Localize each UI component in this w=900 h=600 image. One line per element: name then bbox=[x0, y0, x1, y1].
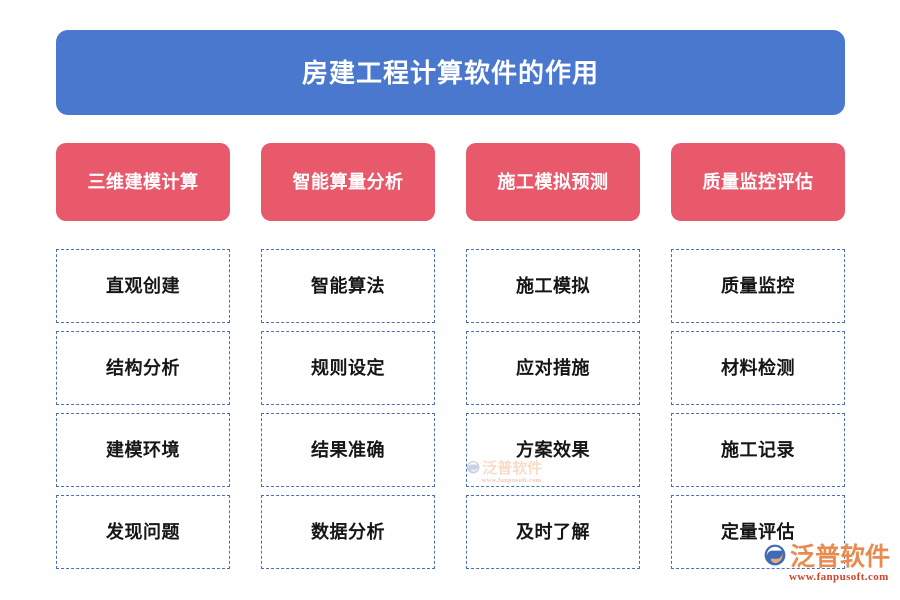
item-cell[interactable]: 智能算法 bbox=[261, 249, 435, 323]
brand-logo[interactable]: 泛普软件 www.fanpusoft.com bbox=[763, 543, 890, 583]
item-cell[interactable]: 直观创建 bbox=[56, 249, 230, 323]
item-cell[interactable]: 材料检测 bbox=[671, 331, 845, 405]
brand-url: www.fanpusoft.com bbox=[789, 572, 889, 583]
category-header-1[interactable]: 三维建模计算 bbox=[56, 143, 230, 221]
item-cell[interactable]: 应对措施 bbox=[466, 331, 640, 405]
item-cell[interactable]: 建模环境 bbox=[56, 413, 230, 487]
item-label: 发现问题 bbox=[106, 523, 180, 541]
category-header-2[interactable]: 智能算量分析 bbox=[261, 143, 435, 221]
item-cell[interactable]: 数据分析 bbox=[261, 495, 435, 569]
item-label: 施工模拟 bbox=[516, 277, 590, 295]
item-cell[interactable]: 方案效果 bbox=[466, 413, 640, 487]
fanpu-logo-icon bbox=[763, 543, 787, 571]
item-label: 方案效果 bbox=[516, 441, 590, 459]
item-label: 结果准确 bbox=[311, 441, 385, 459]
item-label: 定量评估 bbox=[721, 523, 795, 541]
item-cell[interactable]: 发现问题 bbox=[56, 495, 230, 569]
item-label: 应对措施 bbox=[516, 359, 590, 377]
item-cell[interactable]: 结构分析 bbox=[56, 331, 230, 405]
item-label: 施工记录 bbox=[721, 441, 795, 459]
category-header-label: 三维建模计算 bbox=[88, 173, 199, 191]
category-column-2: 智能算量分析 智能算法 规则设定 结果准确 数据分析 bbox=[261, 143, 435, 573]
category-header-4[interactable]: 质量监控评估 bbox=[671, 143, 845, 221]
category-columns: 三维建模计算 直观创建 结构分析 建模环境 发现问题 智能算量分析 智能算法 bbox=[56, 143, 845, 573]
category-header-3[interactable]: 施工模拟预测 bbox=[466, 143, 640, 221]
item-label: 材料检测 bbox=[721, 359, 795, 377]
item-cell[interactable]: 及时了解 bbox=[466, 495, 640, 569]
item-label: 及时了解 bbox=[516, 523, 590, 541]
item-cell[interactable]: 结果准确 bbox=[261, 413, 435, 487]
item-label: 质量监控 bbox=[721, 277, 795, 295]
category-header-label: 智能算量分析 bbox=[293, 173, 404, 191]
infographic-canvas: 房建工程计算软件的作用 三维建模计算 直观创建 结构分析 建模环境 发现问题 bbox=[0, 0, 900, 600]
item-label: 规则设定 bbox=[311, 359, 385, 377]
category-header-label: 质量监控评估 bbox=[703, 173, 814, 191]
item-cell[interactable]: 质量监控 bbox=[671, 249, 845, 323]
item-cell[interactable]: 施工记录 bbox=[671, 413, 845, 487]
category-column-1: 三维建模计算 直观创建 结构分析 建模环境 发现问题 bbox=[56, 143, 230, 573]
brand-logo-row: 泛普软件 bbox=[763, 543, 890, 571]
item-label: 结构分析 bbox=[106, 359, 180, 377]
category-header-label: 施工模拟预测 bbox=[498, 173, 609, 191]
item-cell[interactable]: 规则设定 bbox=[261, 331, 435, 405]
brand-name: 泛普软件 bbox=[790, 545, 890, 570]
category-column-3: 施工模拟预测 施工模拟 应对措施 方案效果 及时了解 bbox=[466, 143, 640, 573]
title-banner: 房建工程计算软件的作用 bbox=[56, 30, 845, 115]
page-title: 房建工程计算软件的作用 bbox=[302, 60, 599, 86]
item-label: 直观创建 bbox=[106, 277, 180, 295]
item-label: 智能算法 bbox=[311, 277, 385, 295]
item-label: 建模环境 bbox=[106, 441, 180, 459]
item-cell[interactable]: 施工模拟 bbox=[466, 249, 640, 323]
item-label: 数据分析 bbox=[311, 523, 385, 541]
category-column-4: 质量监控评估 质量监控 材料检测 施工记录 定量评估 bbox=[671, 143, 845, 573]
